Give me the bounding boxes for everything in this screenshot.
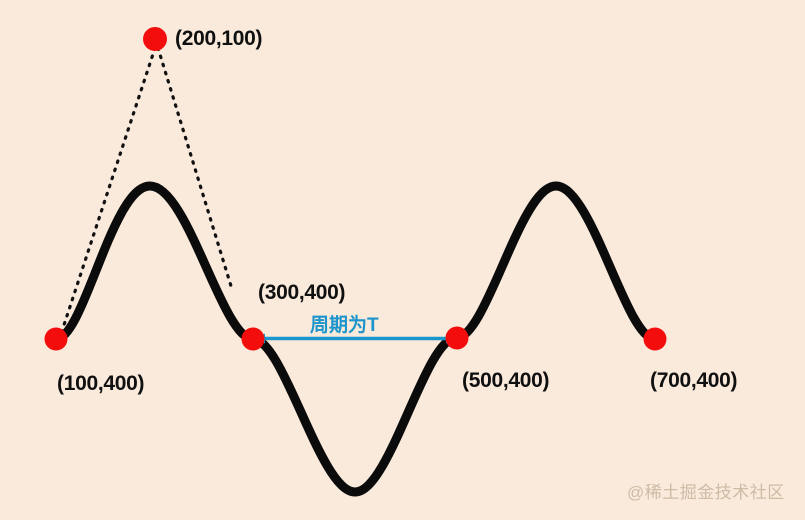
marker-right-700-400[interactable] (644, 328, 667, 351)
label-left-point: (100,400) (57, 372, 144, 396)
figure-canvas: (200,100) (100,400) (300,400) (500,400) … (0, 0, 805, 520)
marker-peak-200-100[interactable] (143, 27, 167, 51)
sine-wave-diagram (0, 0, 805, 520)
watermark-text: @稀土掘金技术社区 (627, 478, 785, 503)
label-right-point: (700,400) (650, 369, 737, 393)
label-peak-point: (200,100) (175, 27, 262, 51)
marker-mid-left-300-400[interactable] (242, 328, 265, 351)
marker-left-100-400[interactable] (45, 328, 68, 351)
label-period: 周期为T (310, 310, 379, 337)
label-mid-right-point: (500,400) (462, 369, 549, 393)
marker-mid-right-500-400[interactable] (446, 327, 469, 350)
label-mid-left-point: (300,400) (258, 281, 345, 305)
